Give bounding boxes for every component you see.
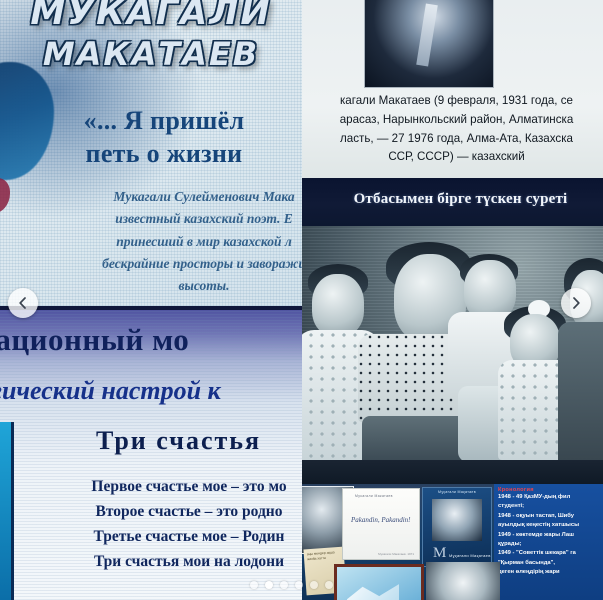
- child-face: [312, 274, 364, 336]
- letter-signature: Pakandin, Pakandin!: [351, 516, 411, 524]
- handwritten-letter: Мукагали Макатаев Pakandin, Pakandin! Му…: [342, 488, 420, 560]
- chronology-panel: Кронология 1948 - 49 ҚазМУ-дың фил студе…: [494, 484, 603, 600]
- slide-memorial-collage[interactable]: аңы мендер ақша жазба хатта Мукагали Мак…: [302, 460, 603, 600]
- pagination-dot[interactable]: [295, 581, 303, 589]
- slide-body-line2: известный казахский поэт. Е: [46, 208, 302, 230]
- book-cover-name: Мұқағали Мақатаев: [449, 553, 491, 558]
- chronology-line-9: деген өлеңдірің жари: [498, 568, 603, 577]
- pagination-dot[interactable]: [250, 581, 258, 589]
- chronology-line-5: 1949 - көктемде жары Лаш: [498, 531, 603, 540]
- letter-footer: Мукагали Макатаев. 1971: [378, 552, 414, 556]
- mother-torso: [558, 322, 603, 460]
- left-slide-column: МУКАГАЛИ МАКАТАЕВ «... Я пришёл петь о ж…: [0, 0, 302, 600]
- carousel-pagination[interactable]: [250, 581, 333, 589]
- slide-title: МУКАГАЛИ МАКАТАЕВ: [0, 0, 302, 73]
- chevron-right-icon: [570, 297, 582, 309]
- pagination-dot[interactable]: [280, 581, 288, 589]
- slide-heading-secondary: логический настрой к: [0, 376, 302, 406]
- portrait-photo-icon: [364, 0, 494, 88]
- slide-top-divider: [0, 306, 302, 310]
- slide-title-line1: МУКАГАЛИ: [30, 0, 271, 33]
- poem-lines: Первое счастье мое – это мо Второе счаст…: [10, 474, 302, 574]
- chronology-line-2: студенті;: [498, 502, 603, 511]
- book-monogram: М: [433, 545, 446, 562]
- biography-line-4: ССР, СССР) — казахский: [302, 148, 603, 167]
- book-cover: Мұқағали Мақатаев М Мұқағали Мақатаев: [422, 487, 492, 567]
- biography-text: кагали Макатаев (9 февраля, 1931 года, с…: [302, 92, 603, 167]
- biography-line-3: ласть, — 27 1976 года, Алма-Ата, Казахск…: [302, 130, 603, 149]
- pagination-dot[interactable]: [310, 581, 318, 589]
- chronology-line-3: 1948 - оқуын тастап, Шибу: [498, 512, 603, 521]
- carousel-next-button[interactable]: [561, 288, 591, 318]
- right-slide-column: кагали Макатаев (9 февраля, 1931 года, с…: [302, 0, 603, 600]
- pagination-dot-active[interactable]: [265, 581, 273, 589]
- slide-biography[interactable]: кагали Макатаев (9 февраля, 1931 года, с…: [302, 0, 603, 178]
- slide-body-line3: принесший в мир казахской л: [46, 231, 302, 253]
- slide-quote: «... Я пришёл петь о жизни: [10, 104, 302, 171]
- slide-body-line4: бескрайние просторы и заворажи: [46, 253, 302, 275]
- slide-body-line5: высоты.: [46, 275, 302, 297]
- poem-title: Три счастья: [96, 426, 302, 456]
- slide-three-happinesses[interactable]: изационный мо логический настрой к Три с…: [0, 306, 302, 600]
- image-carousel-viewer[interactable]: МУКАГАЛИ МАКАТАЕВ «... Я пришёл петь о ж…: [0, 0, 603, 600]
- collage-portrait-face: [426, 562, 500, 600]
- family-caption-text: Отбасымен бірге түскен суреті: [302, 191, 603, 208]
- biography-line-2: арасаз, Нарынкольский район, Алматинска: [302, 111, 603, 130]
- slide-mukagali-makataev-title[interactable]: МУКАГАЛИ МАКАТАЕВ «... Я пришёл петь о ж…: [0, 0, 302, 306]
- framed-landscape-photo: [334, 564, 424, 600]
- chronology-line-7: 1949 - "Советтік шекара" га: [498, 549, 603, 558]
- slide-quote-line1: «... Я пришёл: [10, 104, 302, 137]
- poem-line-1: Первое счастье мое – это мо: [10, 474, 302, 499]
- poem-line-2: Второе счастье – это родно: [10, 499, 302, 524]
- toddler-face: [464, 260, 516, 320]
- book-cover-header: Мұқағали Мақатаев: [423, 490, 491, 494]
- family-caption-band: Отбасымен бірге түскен суреті: [302, 178, 603, 226]
- chronology-line-8: "Қырман басында",: [498, 559, 603, 568]
- slide-body-line1: Мукагали Сулейменович Мака: [46, 186, 302, 208]
- book-cover-portrait: [432, 499, 482, 541]
- poem-line-3: Третье счастье мое – Родин: [10, 524, 302, 549]
- slide-quote-line2: петь о жизни: [10, 137, 302, 170]
- brush-accent-decoration: [0, 178, 10, 214]
- pagination-dot[interactable]: [325, 581, 333, 589]
- chronology-line-4: ауылдық кеңестің хатшысы: [498, 521, 603, 530]
- chronology-line-1: 1948 - 49 ҚазМУ-дың фил: [498, 493, 603, 502]
- poem-line-4: Три счастья мои на лодони: [10, 549, 302, 574]
- chevron-left-icon: [17, 297, 29, 309]
- slide-heading-primary: изационный мо: [0, 322, 302, 358]
- letter-header: Мукагали Макатаев: [355, 494, 393, 498]
- carousel-prev-button[interactable]: [8, 288, 38, 318]
- slide-title-line2: МАКАТАЕВ: [0, 37, 302, 73]
- biography-line-1: кагали Макатаев (9 февраля, 1931 года, с…: [302, 92, 603, 111]
- chronology-line-6: құрады;: [498, 540, 603, 549]
- family-photograph[interactable]: [302, 226, 603, 460]
- collage-top-strip: [302, 460, 603, 484]
- slide-body-text: Мукагали Сулейменович Мака известный каз…: [46, 186, 302, 297]
